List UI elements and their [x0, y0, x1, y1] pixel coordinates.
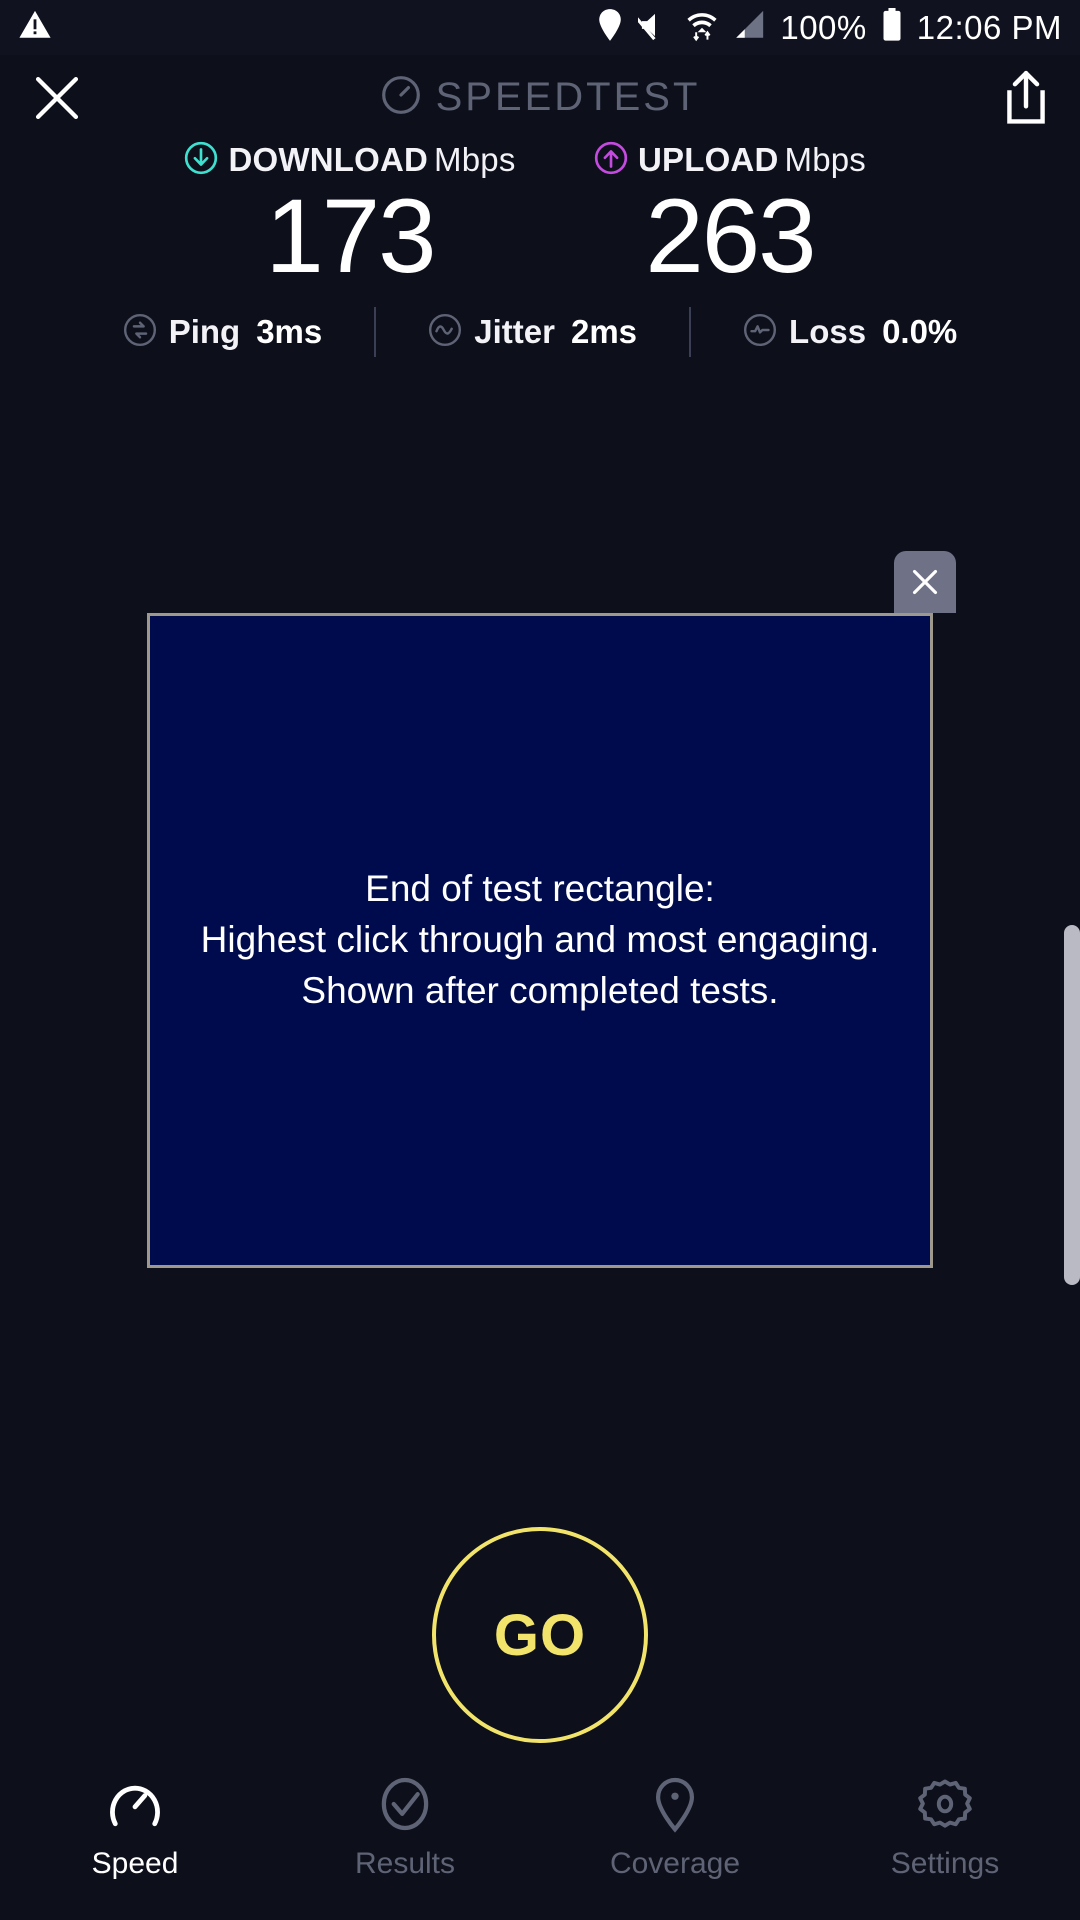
nav-label-coverage: Coverage	[610, 1847, 740, 1881]
advertisement: End of test rectangle: Highest click thr…	[147, 613, 933, 1268]
page-title: SPEEDTEST	[436, 75, 701, 120]
cell-signal-icon	[732, 9, 766, 46]
divider	[374, 307, 376, 357]
go-button[interactable]: GO	[432, 1527, 648, 1743]
ad-line-3: Shown after completed tests.	[201, 966, 880, 1017]
results-panel: DOWNLOADMbps 173 UPLOADMbps 263	[0, 138, 1080, 357]
nav-item-coverage[interactable]: Coverage	[540, 1773, 810, 1881]
status-bar: 100% 12:06 PM	[0, 0, 1080, 55]
download-value: 173	[160, 184, 540, 289]
wifi-icon	[686, 8, 718, 47]
speed-gauge-icon	[104, 1773, 166, 1835]
share-icon[interactable]	[1002, 69, 1050, 127]
loss-label: Loss	[789, 313, 866, 351]
nav-label-speed: Speed	[92, 1847, 179, 1881]
jitter-label: Jitter	[474, 313, 555, 351]
battery-percent-label: 100%	[780, 9, 866, 47]
download-metric: DOWNLOADMbps 173	[160, 138, 540, 289]
ping-metric: Ping 3ms	[123, 313, 323, 352]
scrollbar[interactable]	[1064, 925, 1080, 1285]
speedtest-gauge-icon	[380, 74, 422, 121]
upload-header: UPLOADMbps	[540, 138, 920, 182]
upload-metric: UPLOADMbps 263	[540, 138, 920, 289]
coverage-pin-icon	[644, 1773, 706, 1835]
brand-logo: SPEEDTEST	[0, 55, 1080, 140]
nav-item-speed[interactable]: Speed	[0, 1773, 270, 1881]
settings-gear-icon	[914, 1773, 976, 1835]
upload-label: UPLOADMbps	[638, 141, 866, 179]
sound-muted-icon	[638, 9, 672, 46]
upload-value: 263	[540, 184, 920, 289]
close-icon[interactable]	[30, 71, 84, 125]
nav-label-results: Results	[355, 1847, 455, 1881]
speed-results-row: DOWNLOADMbps 173 UPLOADMbps 263	[0, 138, 1080, 289]
ad-banner[interactable]: End of test rectangle: Highest click thr…	[147, 613, 933, 1268]
download-arrow-circle-icon	[184, 141, 218, 180]
bottom-navigation: Speed Results Coverage Settings	[0, 1765, 1080, 1920]
nav-item-settings[interactable]: Settings	[810, 1773, 1080, 1881]
loss-metric: Loss 0.0%	[743, 313, 957, 352]
download-label: DOWNLOADMbps	[228, 141, 515, 179]
ping-jitter-loss-row: Ping 3ms Jitter 2ms Loss 0.0	[0, 307, 1080, 357]
ad-line-2: Highest click through and most engaging.	[201, 915, 880, 966]
divider	[689, 307, 691, 357]
app-header: SPEEDTEST	[0, 55, 1080, 140]
ad-text: End of test rectangle: Highest click thr…	[179, 864, 902, 1016]
clock-label: 12:06 PM	[917, 9, 1062, 47]
status-bar-left	[18, 8, 52, 47]
jitter-metric: Jitter 2ms	[428, 313, 637, 352]
upload-arrow-circle-icon	[594, 141, 628, 180]
ping-circle-icon	[123, 313, 157, 352]
jitter-value: 2ms	[571, 313, 637, 351]
status-bar-right: 100% 12:06 PM	[596, 8, 1062, 47]
nav-item-results[interactable]: Results	[270, 1773, 540, 1881]
ping-value: 3ms	[256, 313, 322, 351]
nav-label-settings: Settings	[891, 1847, 999, 1881]
ad-close-icon[interactable]	[894, 551, 956, 613]
battery-full-icon	[881, 8, 903, 47]
download-header: DOWNLOADMbps	[160, 138, 540, 182]
go-button-label: GO	[494, 1602, 586, 1669]
ad-line-1: End of test rectangle:	[201, 864, 880, 915]
ping-label: Ping	[169, 313, 241, 351]
location-pin-icon	[596, 8, 624, 47]
jitter-wave-circle-icon	[428, 313, 462, 352]
warning-triangle-icon	[18, 8, 52, 47]
results-check-circle-icon	[374, 1773, 436, 1835]
loss-pulse-circle-icon	[743, 313, 777, 352]
loss-value: 0.0%	[882, 313, 957, 351]
